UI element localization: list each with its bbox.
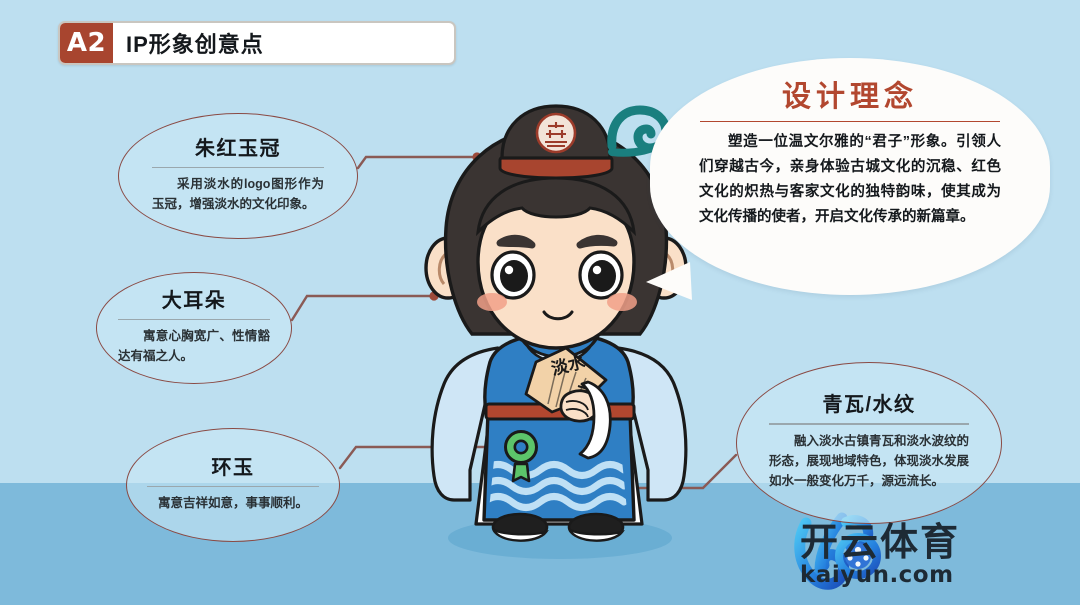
callout-huan-yu: 环玉 寓意吉祥如意，事事顺利。 [126,428,340,542]
callout-title: 朱红玉冠 [152,138,324,160]
header-badge: A2 [60,23,113,63]
divider [147,486,319,488]
callout-zhuhong-yuguan: 朱红玉冠 采用淡水的logo图形作为玉冠，增强淡水的文化印象。 [118,113,358,239]
design-concept-text: 塑造一位温文尔雅的“君子”形象。引领人们穿越古今，亲身体验古城文化的沉稳、红色文… [699,130,1001,230]
callout-description: 采用淡水的logo图形作为玉冠，增强淡水的文化印象。 [152,174,324,215]
divider [769,423,969,425]
callout-description: 寓意吉祥如意，事事顺利。 [147,493,319,513]
page-title: IP形象创意点 [113,23,454,63]
slide-header: A2 IP形象创意点 [58,21,456,65]
design-concept-bubble: 设计理念 塑造一位温文尔雅的“君子”形象。引领人们穿越古今，亲身体验古城文化的沉… [650,58,1050,295]
design-concept-title: 设计理念 [782,82,918,114]
watermark: 开云体育 kaiyun.com [792,512,1074,598]
callout-title: 环玉 [147,457,319,479]
callout-qingwa-shuiwen: 青瓦/水纹 融入淡水古镇青瓦和淡水波纹的形态，展现地域特色，体现淡水发展如水一般… [736,362,1002,524]
callout-description: 寓意心胸宽广、性情豁达有福之人。 [118,326,270,367]
callout-description: 融入淡水古镇青瓦和淡水波纹的形态，展现地域特色，体现淡水发展如水一般变化万千，源… [769,431,969,492]
slide-canvas: 淡水 [0,0,1080,605]
watermark-url: kaiyun.com [800,564,960,587]
watermark-brand: 开云体育 [800,524,960,562]
callout-da-erduo: 大耳朵 寓意心胸宽广、性情豁达有福之人。 [96,272,292,384]
divider [700,121,1000,123]
divider [118,319,270,321]
callout-title: 青瓦/水纹 [769,394,969,416]
callout-title: 大耳朵 [118,290,270,312]
divider [152,167,324,169]
